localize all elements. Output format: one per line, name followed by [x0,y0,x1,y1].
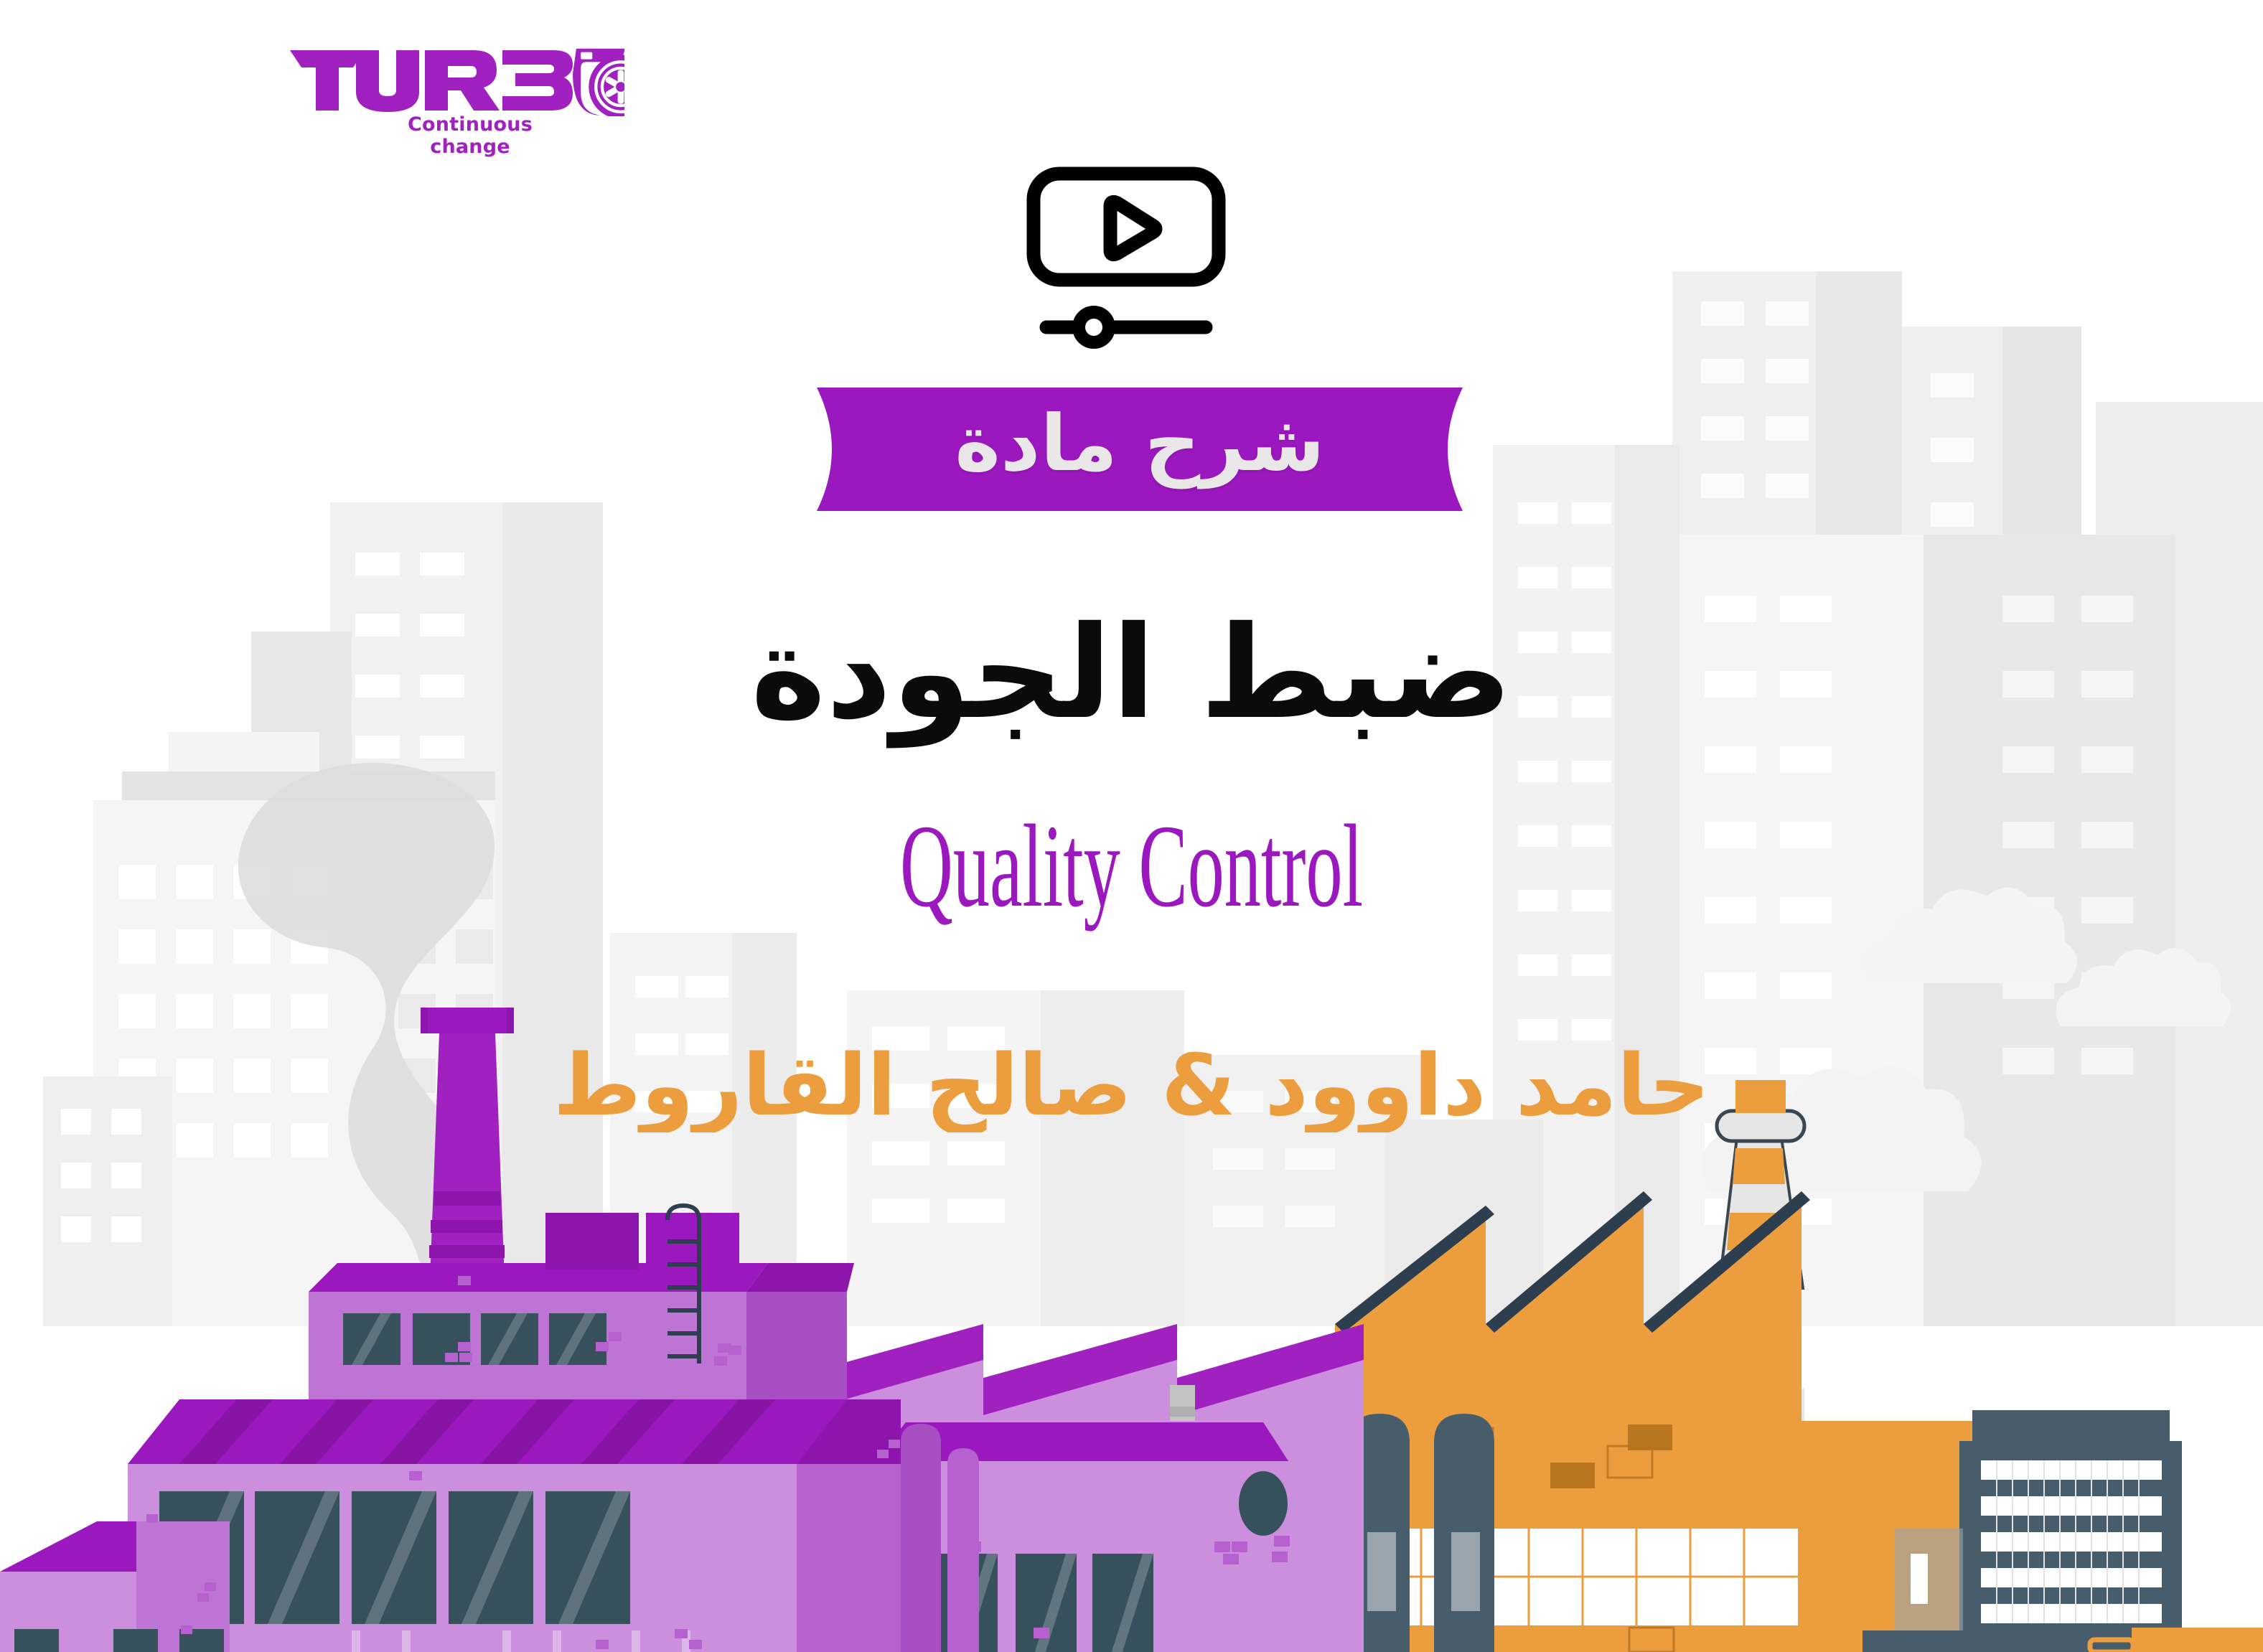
page-title-english: Quality Control [430,804,1833,928]
authors-line: حامد داوود & صالح القاروط [0,1039,2263,1132]
poster-canvas: Continuous change شرح مادة ضبط الجودة Qu… [0,0,2263,1652]
logo-tagline: Continuous change [366,113,574,158]
video-player-icon [1022,165,1230,355]
brand-logo[interactable]: Continuous change [287,42,624,142]
banner-label: شرح مادة [817,388,1463,511]
turbo-wordmark-icon [287,42,624,116]
page-title-arabic: ضبط الجودة [0,606,2263,741]
section-banner: شرح مادة [817,388,1463,511]
